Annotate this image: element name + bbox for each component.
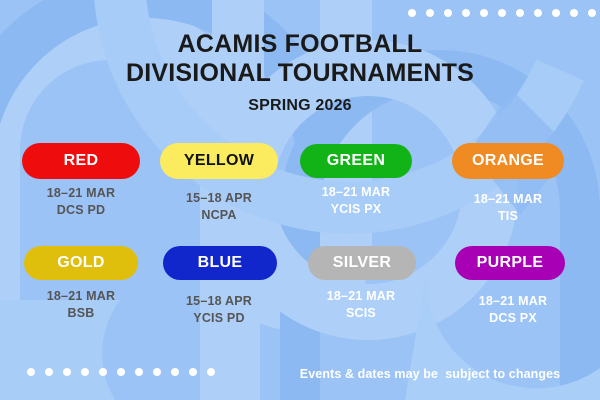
division-caption: 18–21 MARDCS PX	[444, 293, 582, 327]
division-badge-silver[interactable]: SILVER	[308, 246, 416, 280]
dot	[153, 368, 161, 376]
division-caption: 18–21 MARYCIS PX	[292, 184, 420, 218]
dot	[135, 368, 143, 376]
division-venue: DCS PX	[444, 310, 582, 327]
division-badge-red[interactable]: RED	[22, 143, 140, 179]
division-caption: 18–21 MARSCIS	[292, 288, 430, 322]
dot	[81, 368, 89, 376]
dot	[534, 9, 542, 17]
division-caption: 18–21 MARTIS	[444, 191, 572, 225]
dot	[426, 9, 434, 17]
division-dates: 18–21 MAR	[292, 288, 430, 305]
dot	[552, 9, 560, 17]
dot	[117, 368, 125, 376]
division-dates: 18–21 MAR	[292, 184, 420, 201]
division-venue: SCIS	[292, 305, 430, 322]
division-badge-gold[interactable]: GOLD	[24, 246, 138, 280]
dot	[462, 9, 470, 17]
division-dates: 18–21 MAR	[444, 191, 572, 208]
dot-row-top-right	[408, 9, 596, 17]
division-caption: 15–18 APRYCIS PD	[150, 293, 288, 327]
division-dates: 15–18 APR	[150, 190, 288, 207]
dot	[207, 368, 215, 376]
season-subtitle: SPRING 2026	[0, 97, 600, 115]
disclaimer-note: Events & dates may be subject to changes	[270, 367, 590, 381]
dot	[189, 368, 197, 376]
page-title-line-2: DIVISIONAL TOURNAMENTS	[0, 59, 600, 88]
dot	[27, 368, 35, 376]
dot	[498, 9, 506, 17]
division-venue: NCPA	[150, 207, 288, 224]
dot	[171, 368, 179, 376]
dot	[444, 9, 452, 17]
division-dates: 18–21 MAR	[12, 288, 150, 305]
division-dates: 18–21 MAR	[444, 293, 582, 310]
division-badge-green[interactable]: GREEN	[300, 144, 412, 178]
dot	[588, 9, 596, 17]
dot	[408, 9, 416, 17]
division-badge-blue[interactable]: BLUE	[163, 246, 277, 280]
division-badge-orange[interactable]: ORANGE	[452, 143, 564, 179]
division-caption: 18–21 MARDCS PD	[12, 185, 150, 219]
dot	[99, 368, 107, 376]
division-venue: YCIS PX	[292, 201, 420, 218]
division-venue: BSB	[12, 305, 150, 322]
page-title-line-1: ACAMIS FOOTBALL	[0, 30, 600, 59]
dot	[570, 9, 578, 17]
dot	[480, 9, 488, 17]
division-caption: 15–18 APRNCPA	[150, 190, 288, 224]
division-venue: DCS PD	[12, 202, 150, 219]
dot	[45, 368, 53, 376]
division-venue: YCIS PD	[150, 310, 288, 327]
division-badge-purple[interactable]: PURPLE	[455, 246, 565, 280]
division-dates: 15–18 APR	[150, 293, 288, 310]
division-grid: RED18–21 MARDCS PDYELLOW15–18 APRNCPAGRE…	[0, 140, 600, 340]
dot-row-bottom-left	[27, 368, 215, 376]
division-venue: TIS	[444, 208, 572, 225]
division-dates: 18–21 MAR	[12, 185, 150, 202]
tournament-poster: ACAMIS FOOTBALL DIVISIONAL TOURNAMENTS S…	[0, 0, 600, 400]
division-caption: 18–21 MARBSB	[12, 288, 150, 322]
dot	[516, 9, 524, 17]
division-badge-yellow[interactable]: YELLOW	[160, 143, 278, 179]
dot	[63, 368, 71, 376]
